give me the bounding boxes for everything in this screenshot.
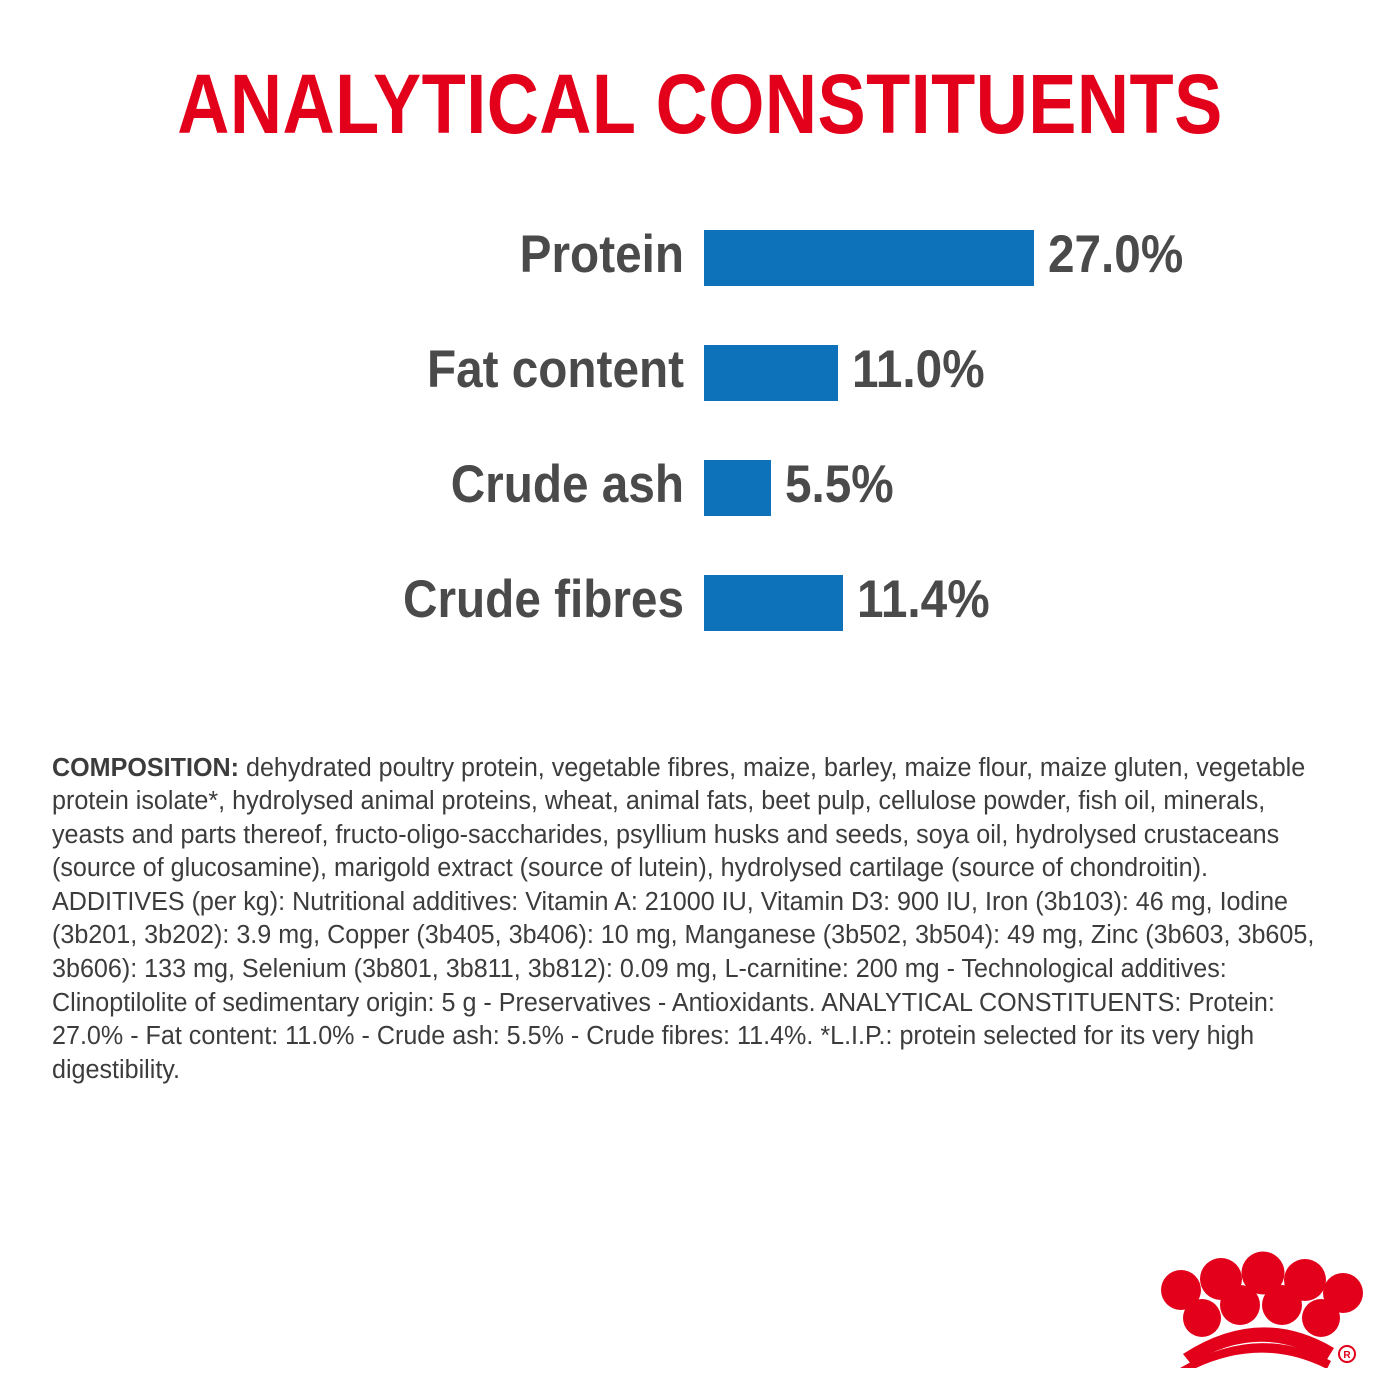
royal-canin-crown-logo: R bbox=[1148, 1248, 1364, 1368]
bar-label-fat-content: Fat content bbox=[216, 341, 684, 399]
bar-value-protein: 27.0% bbox=[1048, 226, 1183, 284]
composition-body: dehydrated poultry protein, vegetable fi… bbox=[52, 754, 1314, 1084]
bar-label-crude-fibres: Crude fibres bbox=[216, 571, 684, 629]
bar-value-crude-ash: 5.5% bbox=[785, 456, 894, 514]
bar-track-protein bbox=[704, 230, 1034, 286]
registered-trademark-icon: R bbox=[1339, 1346, 1355, 1362]
bar-row: Crude fibres 11.4% bbox=[0, 559, 1400, 674]
composition-heading: COMPOSITION: bbox=[52, 754, 239, 782]
bar-label-protein: Protein bbox=[216, 226, 684, 284]
bar-label-crude-ash: Crude ash bbox=[216, 456, 684, 514]
bar-row: Protein 27.0% bbox=[0, 214, 1400, 329]
bar-value-fat-content: 11.0% bbox=[852, 341, 985, 399]
bar-value-crude-fibres: 11.4% bbox=[857, 571, 990, 629]
bar-track-crude-fibres bbox=[704, 575, 843, 631]
bar-fill-fat-content bbox=[704, 345, 838, 401]
bar-fill-crude-fibres bbox=[704, 575, 843, 631]
bar-track-crude-ash bbox=[704, 460, 771, 516]
page-title: ANALYTICAL CONSTITUENTS bbox=[98, 62, 1302, 146]
bar-fill-crude-ash bbox=[704, 460, 771, 516]
bar-row: Crude ash 5.5% bbox=[0, 444, 1400, 559]
bar-row: Fat content 11.0% bbox=[0, 329, 1400, 444]
svg-text:R: R bbox=[1343, 1350, 1351, 1361]
bar-track-fat-content bbox=[704, 345, 838, 401]
bar-fill-protein bbox=[704, 230, 1034, 286]
analytical-constituents-chart: Protein 27.0% Fat content 11.0% Crude as… bbox=[0, 214, 1400, 674]
composition-paragraph: COMPOSITION: dehydrated poultry protein,… bbox=[52, 752, 1333, 1088]
